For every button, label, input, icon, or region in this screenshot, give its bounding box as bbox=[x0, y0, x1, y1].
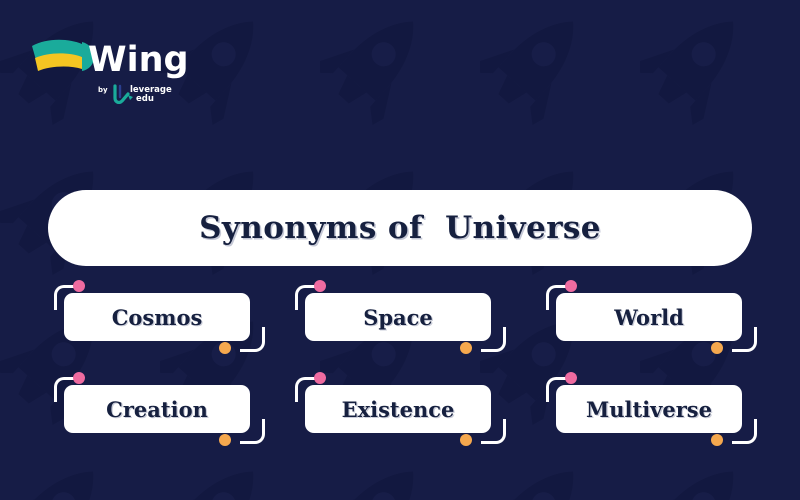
orange-dot-icon bbox=[460, 434, 472, 446]
pink-dot-icon bbox=[73, 372, 85, 384]
synonym-card-box[interactable]: Space bbox=[305, 293, 491, 341]
logo-brand-line2: edu bbox=[136, 94, 154, 104]
synonym-card-box[interactable]: Cosmos bbox=[64, 293, 250, 341]
logo-by-label: by bbox=[98, 86, 108, 94]
infographic-canvas: Wings by leverage edu Synonyms of Univer… bbox=[0, 0, 800, 500]
synonym-label: Space bbox=[363, 305, 433, 330]
pink-dot-icon bbox=[314, 280, 326, 292]
wings-logo[interactable]: Wings by leverage edu bbox=[24, 24, 189, 104]
synonym-card-world[interactable]: World bbox=[550, 283, 750, 351]
synonym-card-grid: Cosmos Space World bbox=[0, 283, 800, 467]
wings-swoosh-icon bbox=[32, 40, 94, 71]
page-title: Synonyms of Universe bbox=[199, 210, 601, 246]
leverage-edu-tick-icon bbox=[128, 95, 133, 100]
synonym-label: Multiverse bbox=[586, 397, 712, 422]
logo-wordmark: Wings bbox=[88, 40, 189, 80]
orange-dot-icon bbox=[219, 342, 231, 354]
pink-dot-icon bbox=[565, 372, 577, 384]
synonym-row-2: Creation Existence Multiverse bbox=[0, 375, 800, 467]
synonym-card-creation[interactable]: Creation bbox=[58, 375, 258, 443]
orange-dot-icon bbox=[711, 342, 723, 354]
title-card: Synonyms of Universe bbox=[48, 190, 752, 266]
pink-dot-icon bbox=[314, 372, 326, 384]
orange-dot-icon bbox=[711, 434, 723, 446]
synonym-card-space[interactable]: Space bbox=[299, 283, 499, 351]
synonym-card-existence[interactable]: Existence bbox=[299, 375, 499, 443]
synonym-card-box[interactable]: Creation bbox=[64, 385, 250, 433]
synonym-label: Creation bbox=[106, 397, 208, 422]
pink-dot-icon bbox=[565, 280, 577, 292]
orange-dot-icon bbox=[460, 342, 472, 354]
synonym-row-1: Cosmos Space World bbox=[0, 283, 800, 375]
pink-dot-icon bbox=[73, 280, 85, 292]
synonym-card-box[interactable]: Existence bbox=[305, 385, 491, 433]
synonym-card-cosmos[interactable]: Cosmos bbox=[58, 283, 258, 351]
synonym-card-multiverse[interactable]: Multiverse bbox=[550, 375, 750, 443]
synonym-label: Existence bbox=[342, 397, 455, 422]
synonym-card-box[interactable]: Multiverse bbox=[556, 385, 742, 433]
orange-dot-icon bbox=[219, 434, 231, 446]
synonym-label: Cosmos bbox=[112, 305, 203, 330]
synonym-card-box[interactable]: World bbox=[556, 293, 742, 341]
synonym-label: World bbox=[614, 305, 684, 330]
leverage-edu-check-icon bbox=[115, 86, 128, 102]
